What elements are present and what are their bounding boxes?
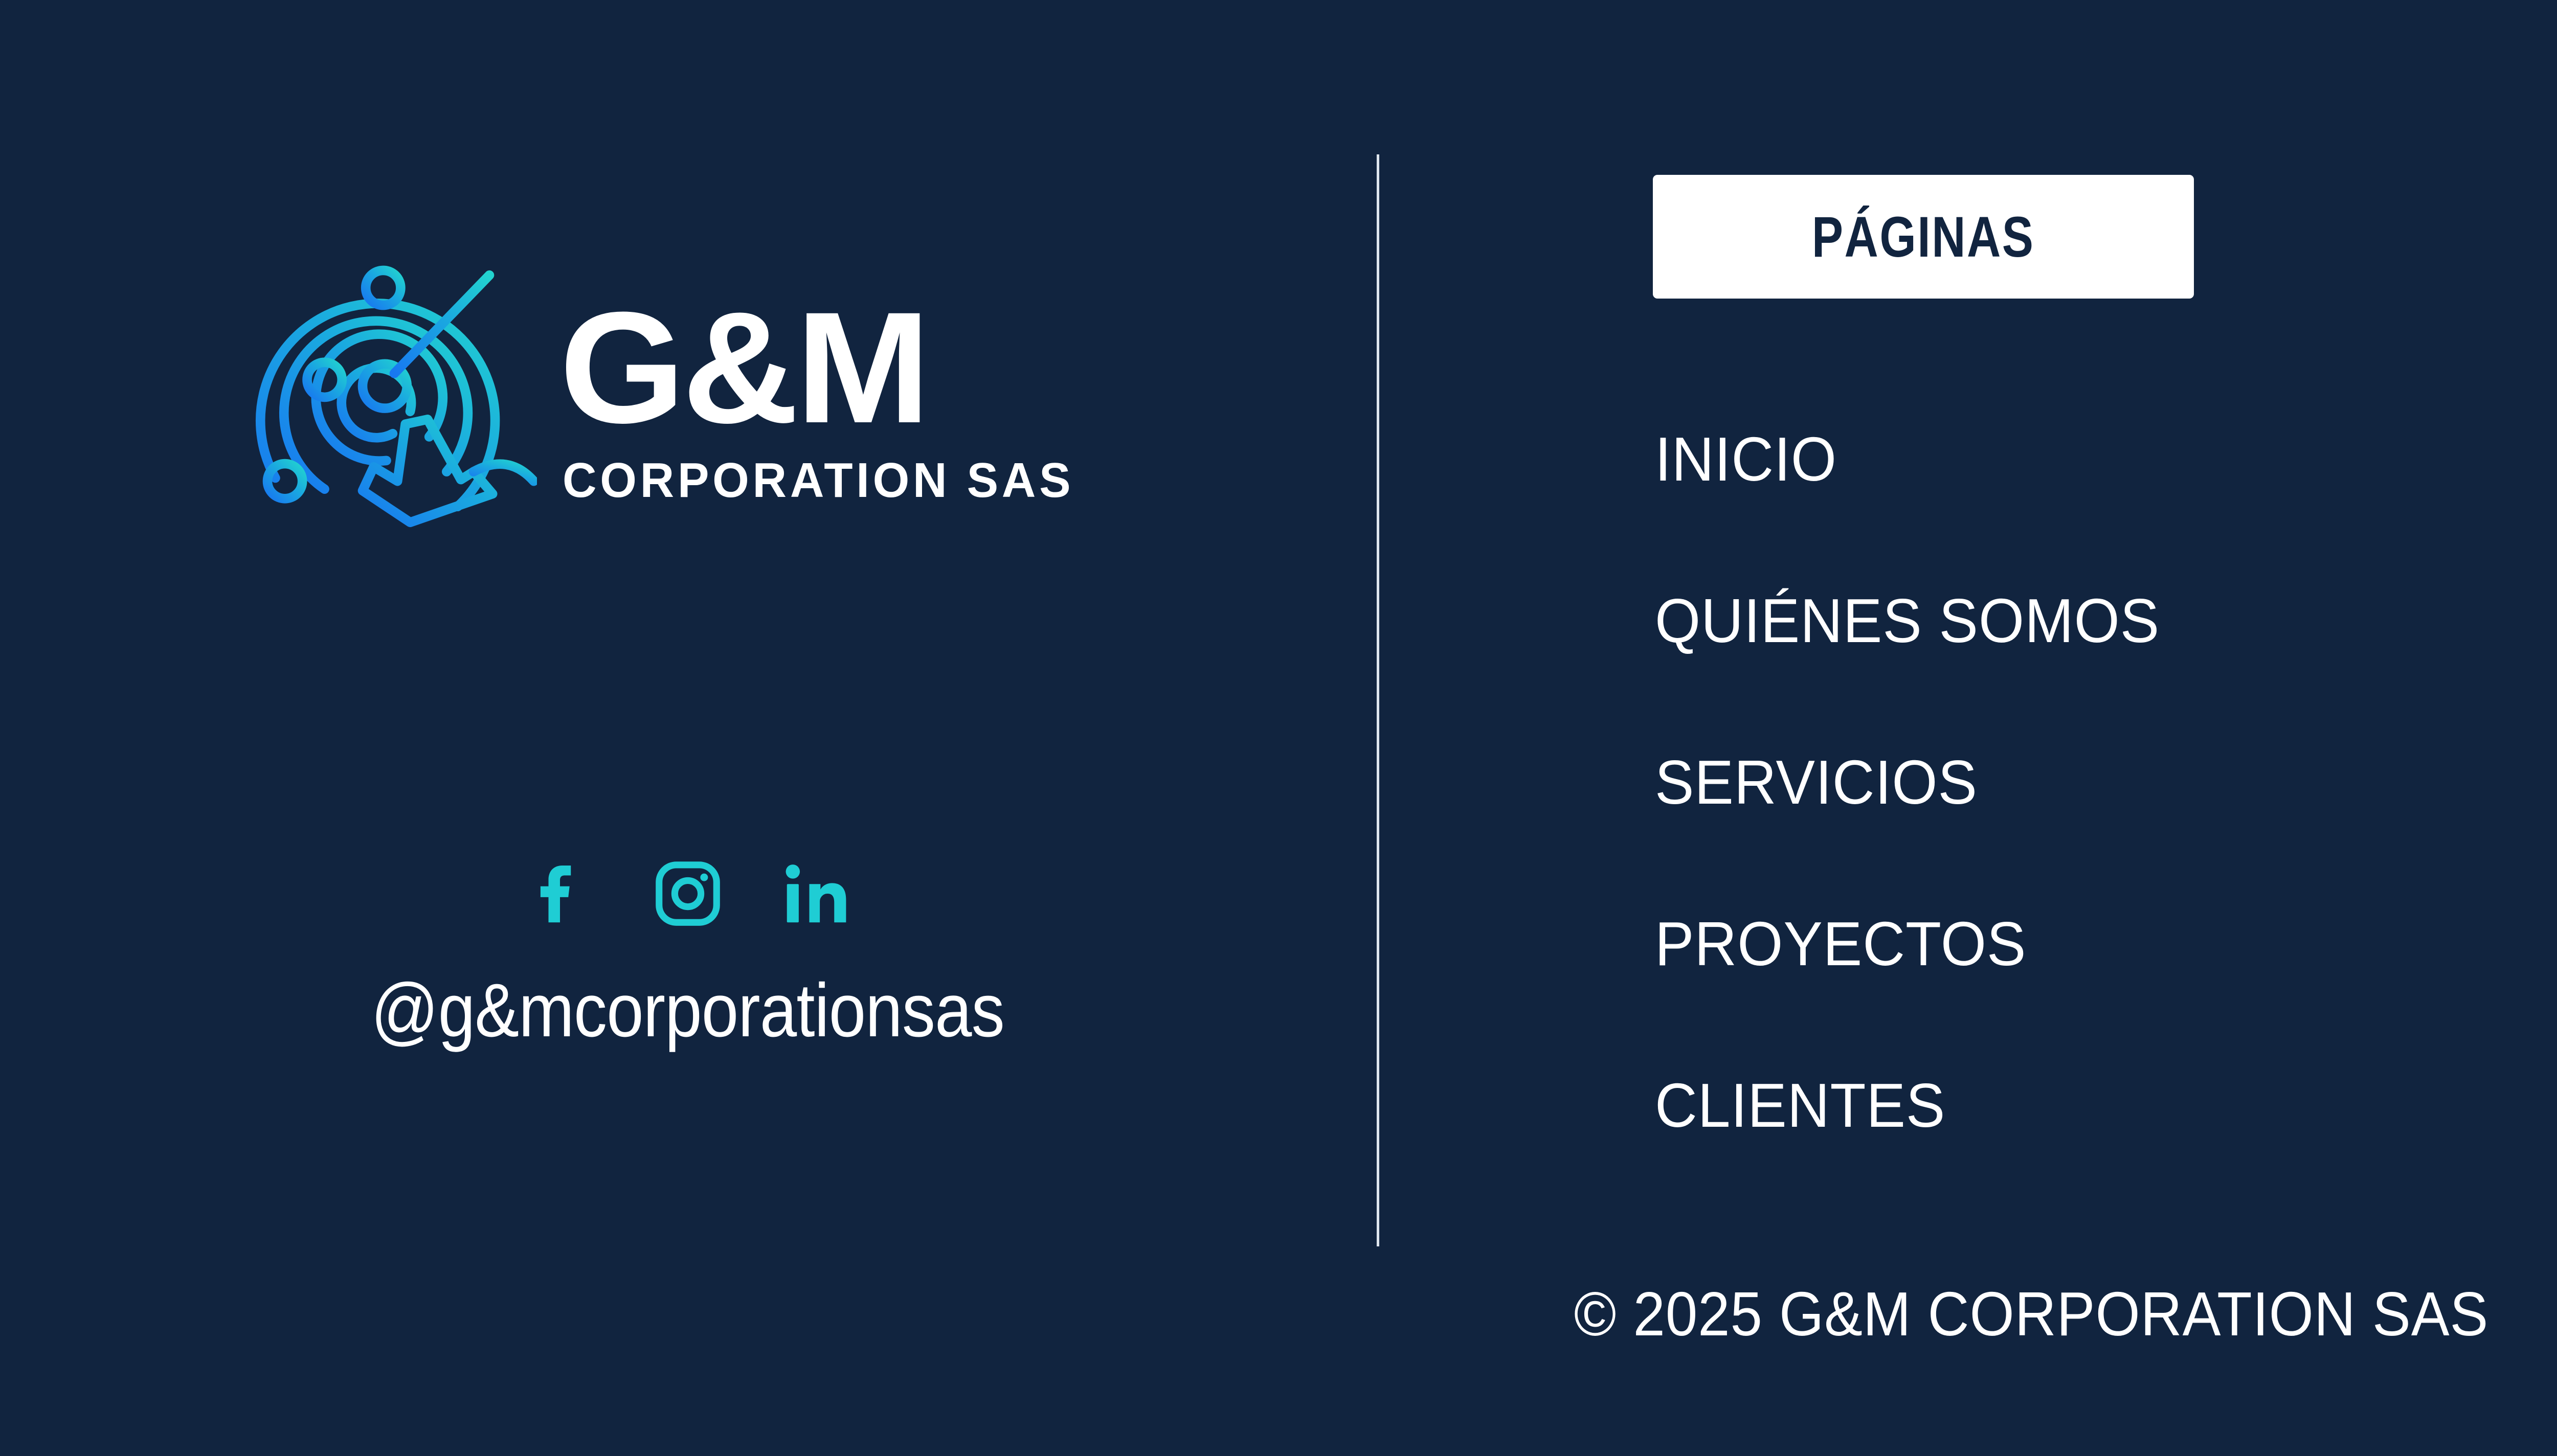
sidebar-item-quienes-somos[interactable]: QUIÉNES SOMOS: [1655, 540, 2160, 701]
logo-wordmark: G&M CORPORATION SAS: [559, 292, 1095, 506]
linkedin-icon[interactable]: [777, 855, 854, 935]
social-handle: @g&mcorporationsas: [371, 967, 1004, 1054]
instagram-icon[interactable]: [649, 855, 726, 935]
social-block: @g&mcorporationsas: [0, 828, 1376, 1054]
brand-column: G&M CORPORATION SAS: [0, 0, 1376, 1456]
site-footer: G&M CORPORATION SAS: [0, 0, 2557, 1456]
pages-heading-label: PÁGINAS: [1812, 204, 2035, 270]
brand-subtitle: CORPORATION SAS: [563, 456, 1074, 505]
pages-heading-box: PÁGINAS: [1653, 175, 2194, 299]
sidebar-item-proyectos[interactable]: PROYECTOS: [1655, 863, 2160, 1025]
copyright-bar: © 2025 G&M CORPORATION SAS: [1377, 1278, 2557, 1350]
company-logo[interactable]: G&M CORPORATION SAS: [220, 240, 1095, 557]
brand-name: G&M: [559, 292, 927, 443]
copyright-text: © 2025 G&M CORPORATION SAS: [1574, 1278, 2489, 1350]
facebook-icon[interactable]: [522, 855, 598, 935]
column-divider: [1377, 154, 1379, 1246]
pages-link-list: INICIO QUIÉNES SOMOS SERVICIOS PROYECTOS…: [1655, 378, 2192, 1186]
sidebar-item-servicios[interactable]: SERVICIOS: [1655, 701, 2160, 863]
radar-satellite-icon: [220, 240, 537, 557]
sidebar-item-inicio[interactable]: INICIO: [1655, 378, 2160, 540]
social-icon-list: [522, 828, 854, 961]
sidebar-item-clientes[interactable]: CLIENTES: [1655, 1025, 2160, 1186]
